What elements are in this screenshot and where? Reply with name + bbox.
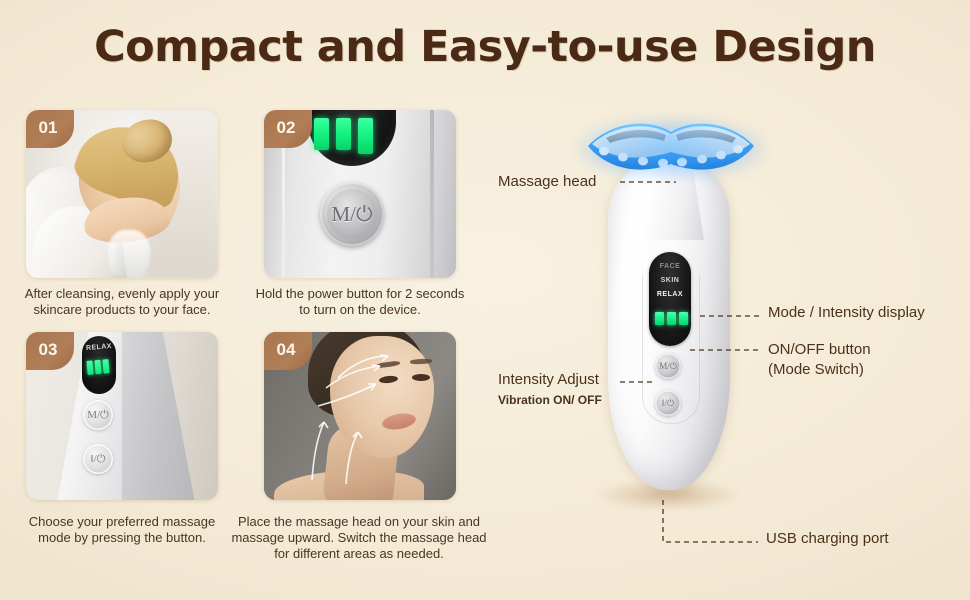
mode-label-face: FACE: [649, 260, 691, 274]
step-caption-03: Choose your preferred massage mode by pr…: [12, 514, 232, 546]
infographic-page: Compact and Easy-to-use Design 01 After …: [0, 0, 970, 600]
label-usb-charging-port: USB charging port: [766, 530, 889, 547]
step-03-intensity-button[interactable]: ‖/⏻: [83, 444, 113, 474]
step-03-power-mode-button[interactable]: M/⏻: [83, 400, 113, 430]
label-vibration-onoff: Vibration ON/ OFF: [498, 393, 602, 407]
device-shadow-edge-right: [430, 110, 434, 278]
step-03-intensity-bars-group: [86, 359, 109, 375]
mode-label-relax: RELAX: [649, 288, 691, 302]
label-intensity-adjust: Intensity Adjust: [498, 371, 599, 388]
step-card-04: 04: [264, 332, 456, 500]
intensity-bar: [358, 118, 373, 154]
intensity-bar: [667, 312, 676, 325]
step-caption-04: Place the massage head on your skin and …: [228, 514, 490, 562]
step-card-02: M/⏻ 02: [264, 110, 456, 278]
massage-head-assembly: [568, 110, 774, 190]
intensity-bar: [86, 360, 93, 374]
label-massage-head: Massage head: [498, 173, 596, 190]
intensity-vibration-button[interactable]: ‖/⏻: [655, 390, 681, 416]
device-illustration: FACE SKIN RELAX M/⏻ ‖/⏻: [560, 100, 780, 530]
step-caption-01: After cleansing, evenly apply your skinc…: [12, 286, 232, 318]
power-mode-button-glyph: M/⏻: [327, 189, 377, 239]
water-splash-shape: [108, 230, 150, 278]
step-card-03: RELAX M/⏻ ‖/⏻ 03: [26, 332, 218, 500]
intensity-bar: [679, 312, 688, 325]
intensity-bar: [94, 360, 101, 374]
power-mode-button[interactable]: M/⏻: [320, 182, 384, 246]
intensity-bar: [336, 118, 351, 150]
label-onoff-button: ON/OFF button: [768, 341, 871, 358]
intensity-bar: [314, 118, 329, 150]
power-mode-button[interactable]: M/⏻: [655, 353, 681, 379]
led-blue-glow: [578, 118, 764, 180]
page-title: Compact and Easy-to-use Design: [0, 22, 970, 72]
intensity-bar: [655, 312, 664, 325]
label-mode-switch-sub: (Mode Switch): [768, 361, 864, 378]
step-card-01: 01: [26, 110, 218, 278]
label-mode-intensity-display: Mode / Intensity display: [768, 304, 925, 321]
mode-label-group: FACE SKIN RELAX: [649, 260, 691, 302]
step-caption-02: Hold the power button for 2 seconds to t…: [250, 286, 470, 318]
mode-label-skin: SKIN: [649, 274, 691, 288]
intensity-bars-group: [314, 118, 373, 154]
device-intensity-bars-group: [655, 312, 688, 325]
intensity-bar: [102, 359, 109, 373]
